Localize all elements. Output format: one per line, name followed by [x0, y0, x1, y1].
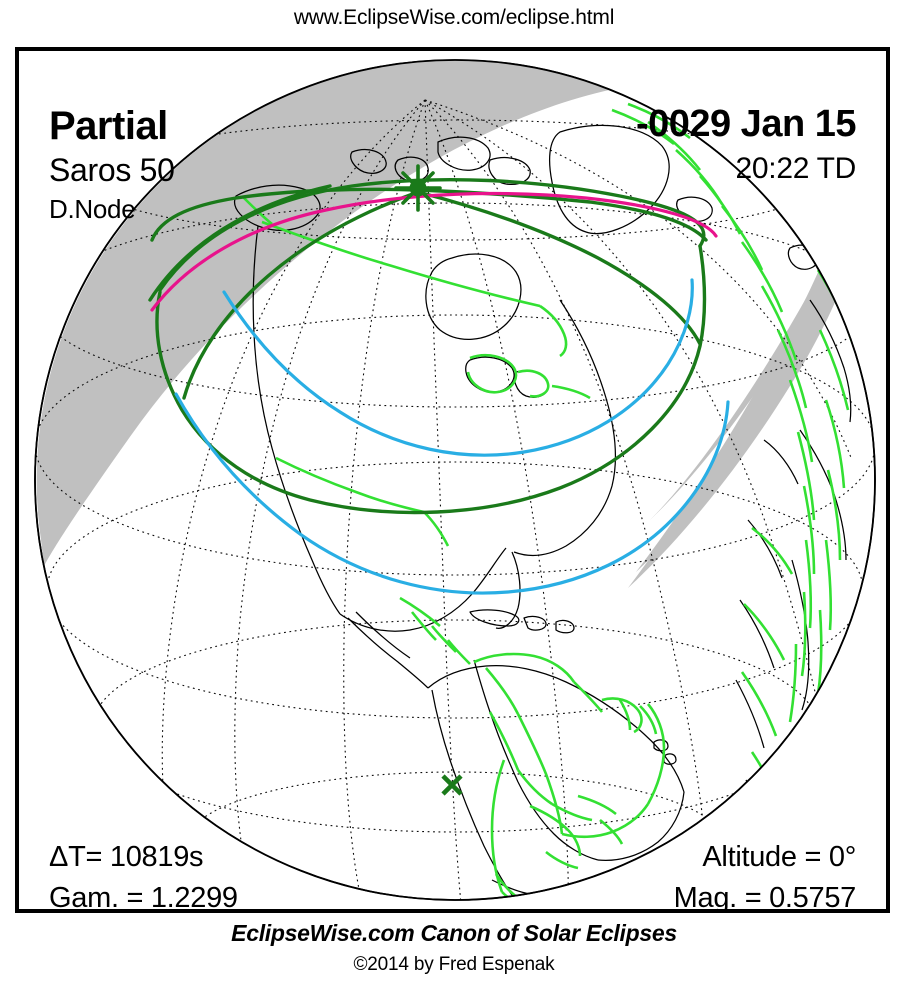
- footer-credit: ©2014 by Fred Espenak: [0, 954, 908, 976]
- magnitude-label: Mag. = 0.5757: [674, 884, 856, 913]
- source-url-text: www.EclipseWise.com/eclipse.html: [294, 6, 614, 30]
- node-label: D.Node: [49, 196, 135, 222]
- eclipse-diagram-page: www.EclipseWise.com/eclipse.html: [0, 0, 908, 1004]
- eclipse-date-label: -0029 Jan 15: [636, 105, 856, 143]
- footer-title: EclipseWise.com Canon of Solar Eclipses: [0, 920, 908, 947]
- footer: EclipseWise.com Canon of Solar Eclipses …: [0, 920, 908, 976]
- source-url: www.EclipseWise.com/eclipse.html: [0, 0, 908, 36]
- saros-label: Saros 50: [49, 154, 175, 186]
- greatest-eclipse-star: [396, 166, 440, 210]
- gamma-label: Gam. = 1.2299: [49, 884, 238, 913]
- delta-t-label: ΔT= 10819s: [49, 843, 203, 872]
- eclipse-time-label: 20:22 TD: [736, 154, 856, 184]
- eclipse-map-frame: Partial Saros 50 D.Node -0029 Jan 15 20:…: [15, 47, 890, 913]
- altitude-label: Altitude = 0°: [702, 843, 856, 872]
- eclipse-type-label: Partial: [49, 106, 168, 146]
